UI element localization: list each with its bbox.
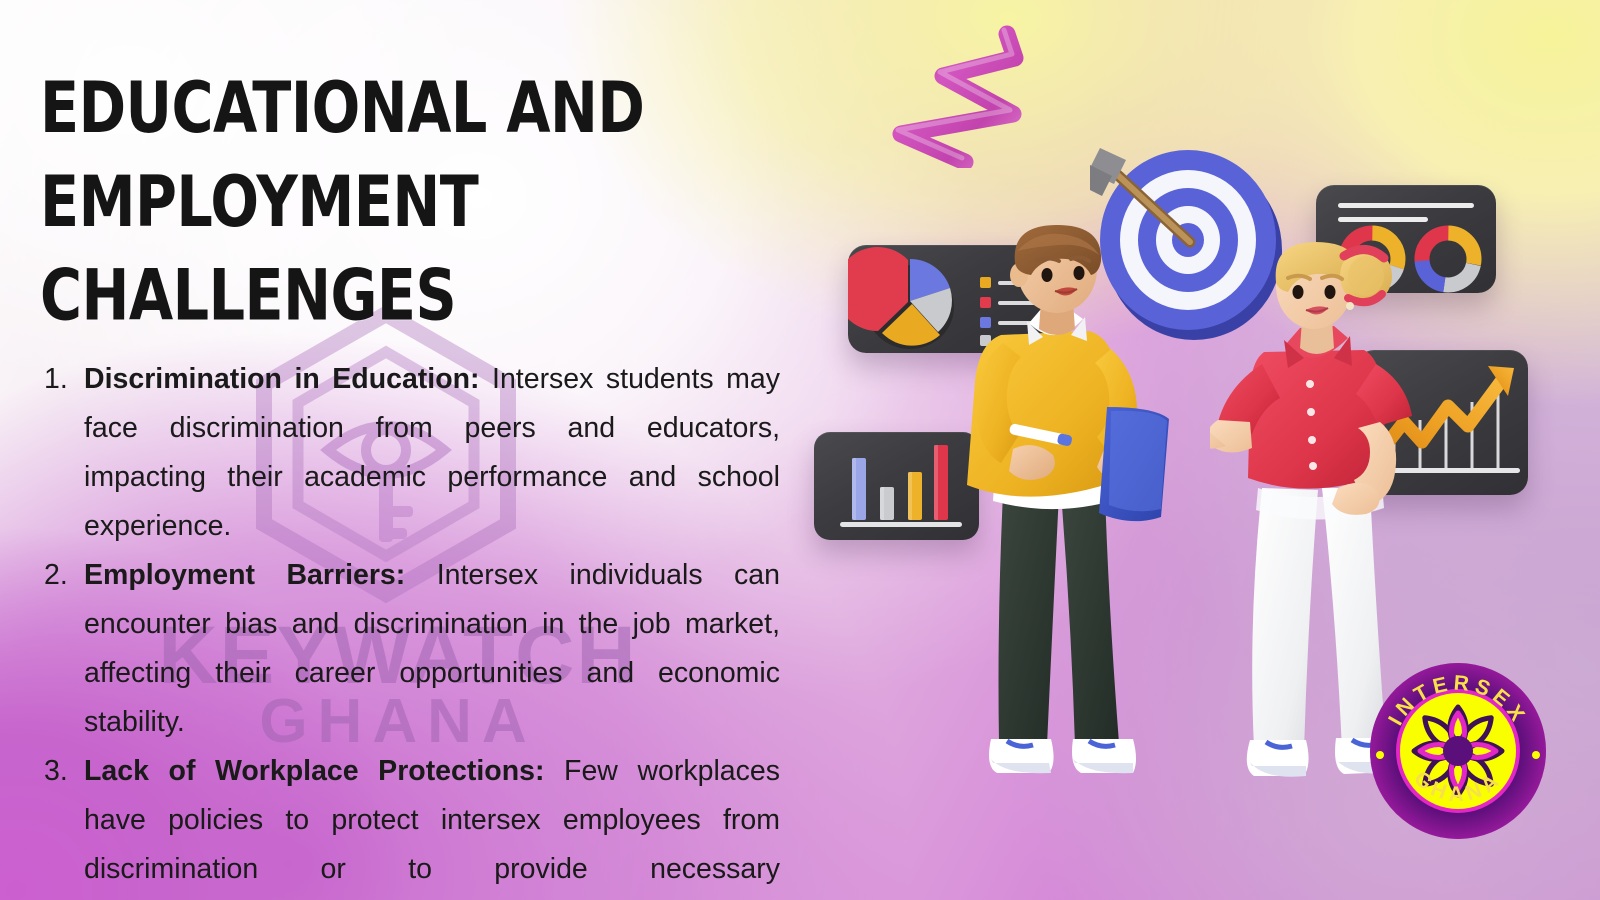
donut-card-line-1 [1338, 203, 1474, 208]
page-title: EDUCATIONAL AND EMPLOYMENT CHALLENGES [40, 62, 824, 342]
list-item: 3. Lack of Workplace Protections: Few wo… [40, 747, 780, 900]
list-item-number: 2. [44, 551, 68, 600]
logo-dot-right [1532, 751, 1540, 759]
content-column: EDUCATIONAL AND EMPLOYMENT CHALLENGES 1.… [40, 62, 780, 900]
bar-axis [840, 522, 962, 527]
male-character [955, 225, 1205, 805]
list-item-number: 3. [44, 747, 68, 796]
logo-flower-center [1443, 736, 1473, 766]
list-item-heading: Lack of Workplace Protections: [84, 755, 544, 787]
woman-leg-left [1252, 488, 1318, 750]
man-shoes [989, 739, 1136, 773]
woman-earring [1346, 302, 1354, 310]
logo-dot-left [1376, 751, 1384, 759]
list-item-heading: Discrimination in Education: [84, 363, 480, 395]
donut-card-line-2 [1338, 217, 1428, 222]
list-item: 1. Discrimination in Education: Intersex… [40, 355, 780, 551]
man-tablet [1099, 407, 1169, 521]
man-leg-right [1061, 493, 1119, 745]
list-item-heading: Employment Barriers: [84, 559, 405, 591]
woman-hand-right [1332, 483, 1380, 515]
intersex-ghana-logo: INTERSEX GHANA [1368, 658, 1548, 844]
list-item: 2. Employment Barriers: Intersex individ… [40, 551, 780, 747]
man-leg-left [999, 493, 1060, 745]
pink-squiggle-decoration [865, 18, 1045, 168]
challenges-list: 1. Discrimination in Education: Intersex… [40, 355, 780, 900]
list-item-number: 1. [44, 355, 68, 404]
